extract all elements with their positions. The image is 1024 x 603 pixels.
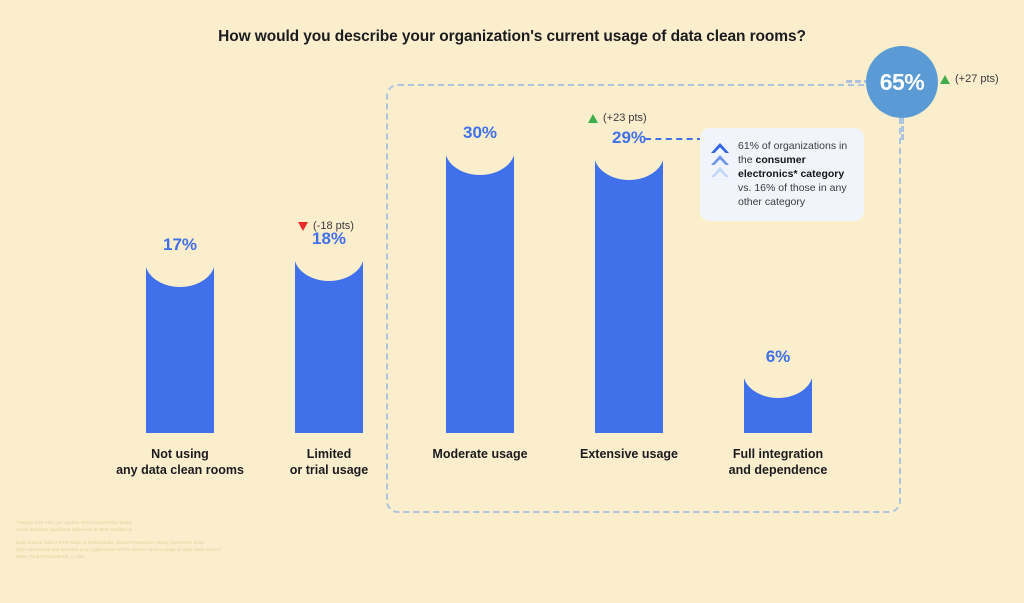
callout-text: 61% of organizations in the consumer ele… — [738, 139, 852, 209]
category-label-extensive: Extensive usage — [580, 446, 678, 462]
bar-top-notch — [445, 149, 515, 175]
triangle-up-icon — [940, 75, 950, 84]
callout-bold1: consumer — [756, 154, 806, 166]
category-label-moderate: Moderate usage — [432, 446, 527, 462]
bar-column-not-using: 17% — [146, 262, 214, 433]
delta-extensive: (+23 pts) — [588, 112, 647, 124]
bar-full-integration[interactable] — [744, 373, 812, 433]
bar-top-notch — [294, 255, 364, 281]
delta-total: (+27 pts) — [940, 73, 999, 85]
callout-connector-line — [645, 138, 703, 140]
triangle-down-icon — [298, 222, 308, 231]
chevron-up-stack-icon — [710, 139, 730, 186]
total-usage-bubble: 65% — [866, 46, 938, 118]
bubble-stem-dash — [901, 118, 904, 140]
footnote-question: Q26: How would you describe your organiz… — [16, 546, 436, 553]
bar-column-moderate: 30% — [446, 150, 514, 433]
footnote-sample-size: *Sample size <30, use caution when inter… — [16, 519, 436, 526]
category-label-line1: Extensive usage — [580, 446, 678, 462]
delta-limited-label: (-18 pts) — [313, 220, 354, 232]
category-label-limited: Limited or trial usage — [290, 446, 369, 478]
consumer-electronics-callout: 61% of organizations in the consumer ele… — [700, 128, 864, 221]
category-label-line1: Moderate usage — [432, 446, 527, 462]
footnote-base: Base: Total Respondents, n=109 — [16, 553, 436, 560]
bar-top-notch — [743, 372, 813, 398]
category-label-line2: any data clean rooms — [116, 462, 244, 478]
chart-canvas: How would you describe your organization… — [0, 0, 1024, 603]
callout-line3: vs. 16% of those in any — [738, 182, 847, 194]
callout-line1: 61% of organizations — [738, 140, 836, 152]
category-label-line2: and dependence — [729, 462, 828, 478]
bar-top-notch — [145, 261, 215, 287]
delta-total-label: (+27 pts) — [955, 73, 999, 85]
delta-limited: (-18 pts) — [298, 220, 354, 232]
total-usage-value: 65% — [880, 69, 925, 96]
bar-column-extensive: 29% — [595, 155, 663, 433]
bar-limited[interactable] — [295, 256, 363, 433]
bar-moderate[interactable] — [446, 150, 514, 433]
category-label-full-integration: Full integration and dependence — [729, 446, 828, 478]
bar-column-full-integration: 6% — [744, 373, 812, 433]
category-label-line1: Limited — [290, 446, 369, 462]
bar-value-label: 6% — [766, 347, 791, 367]
bar-value-label: 30% — [463, 123, 497, 143]
bar-value-label: 18% — [312, 229, 346, 249]
footnote-arrow-significance: Arrow indicates significant difference a… — [16, 526, 436, 533]
category-label-line1: Not using — [116, 446, 244, 462]
delta-extensive-label: (+23 pts) — [603, 112, 647, 124]
callout-bold2: electronics* category — [738, 168, 844, 180]
bar-top-notch — [594, 154, 664, 180]
bar-column-limited: 18% — [295, 256, 363, 433]
bar-extensive[interactable] — [595, 155, 663, 433]
footnotes: *Sample size <30, use caution when inter… — [16, 519, 436, 561]
footnote-data-source: Data Source: Skai x P2Pi State of Retail… — [16, 539, 436, 546]
callout-line4: other category — [738, 196, 805, 208]
bar-value-label: 17% — [163, 235, 197, 255]
category-label-line2: or trial usage — [290, 462, 369, 478]
bar-value-label: 29% — [612, 128, 646, 148]
category-label-not-using: Not using any data clean rooms — [116, 446, 244, 478]
triangle-up-icon — [588, 114, 598, 123]
category-label-line1: Full integration — [729, 446, 828, 462]
bar-not-using[interactable] — [146, 262, 214, 433]
